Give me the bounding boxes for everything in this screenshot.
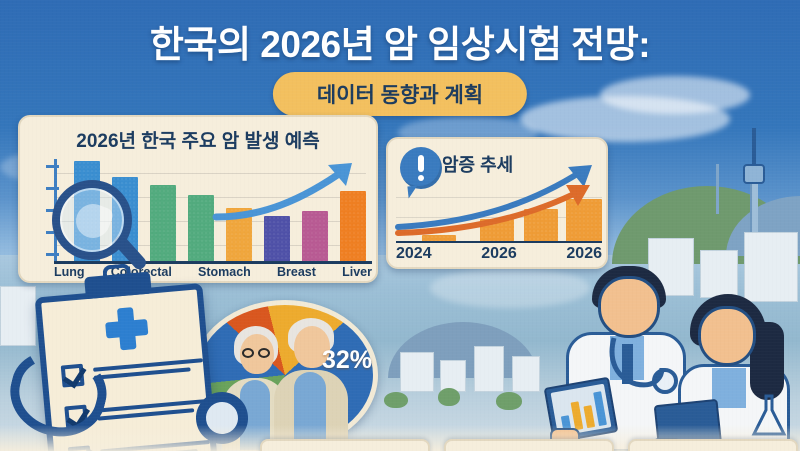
medical-cross-icon (104, 306, 150, 352)
bottom-card[interactable] (628, 439, 798, 451)
cancer-trend-card[interactable]: 암증 추세 2024 2026 2026 (386, 137, 608, 269)
magnifier-icon (52, 180, 148, 276)
cat-label: Liver (342, 265, 372, 279)
building (0, 286, 36, 346)
year-label: 2024 (396, 245, 432, 263)
cloud (600, 76, 750, 114)
building (512, 356, 540, 392)
trend-bar-chart (396, 191, 602, 243)
cat-label: Breast (277, 265, 316, 279)
clipboard-clip (84, 272, 152, 300)
tree (496, 392, 522, 410)
subtitle-text: 데이터 동향과 계획 (317, 84, 483, 107)
doctor-face (598, 276, 660, 338)
building (400, 352, 434, 392)
n-seoul-tower-icon (740, 128, 768, 236)
two-doctors-illustration (556, 252, 800, 451)
pie-data-label: 32% (322, 346, 372, 375)
year-label: 2026 (481, 245, 517, 263)
doctor-face (698, 306, 756, 366)
forecast-card-title: 2026년 한국 주요 암 발생 예측 (20, 126, 376, 153)
building (440, 360, 466, 392)
tree (438, 388, 460, 406)
tree (384, 392, 408, 408)
building (474, 346, 504, 392)
trend-card-title: 암증 추세 (442, 151, 513, 177)
subtitle-pill: 데이터 동향과 계획 (273, 72, 527, 116)
cat-label: Stomach (198, 265, 251, 279)
trend-arrows-icon (396, 177, 602, 229)
bottom-card[interactable] (444, 439, 614, 451)
bottom-card[interactable] (260, 439, 430, 451)
stethoscope-icon (606, 334, 676, 394)
poster-canvas: 한국의 2026년 암 임상시험 전망: 데이터 동향과 계획 2026년 한국… (0, 0, 800, 451)
page-title: 한국의 2026년 암 임상시험 전망: (0, 14, 800, 68)
